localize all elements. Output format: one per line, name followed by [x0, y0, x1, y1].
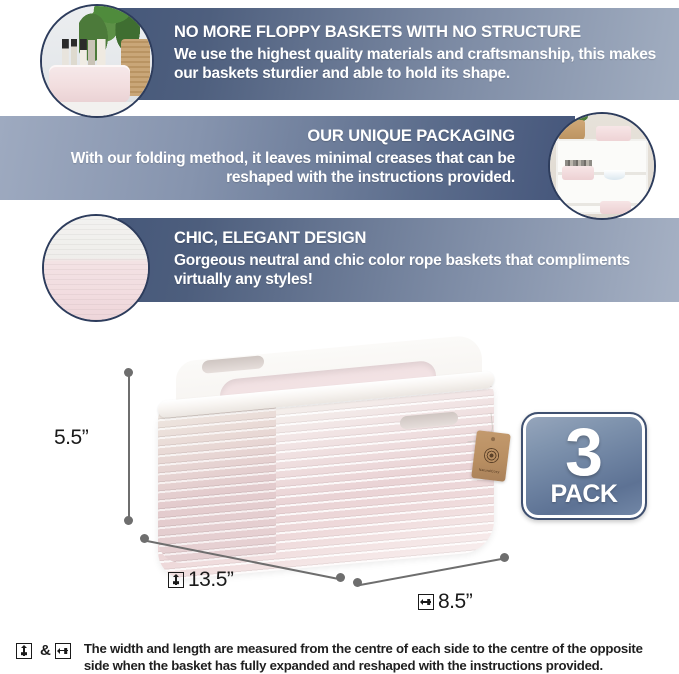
width-dim-dot-right	[500, 553, 509, 562]
width-dimension-value: 8.5”	[438, 590, 472, 613]
feature-title: NO MORE FLOPPY BASKETS WITH NO STRUCTURE	[174, 24, 665, 41]
ampersand-label: &	[40, 642, 51, 659]
pink-basket-shape	[562, 166, 593, 180]
length-dimension-value: 13.5”	[188, 568, 233, 591]
height-dimension-value: 5.5”	[54, 426, 88, 449]
vertical-arrow-box-icon	[168, 572, 184, 588]
feature-banner-design: CHIC, ELEGANT DESIGN Gorgeous neutral an…	[118, 218, 679, 302]
length-dim-dot-right	[336, 573, 345, 582]
feature-banner-packaging: OUR UNIQUE PACKAGING With our folding me…	[0, 116, 575, 200]
feature-thumbnail-structure	[40, 4, 154, 118]
horizontal-arrow-box-icon	[55, 643, 71, 659]
infographic-stage: NO MORE FLOPPY BASKETS WITH NO STRUCTURE…	[0, 0, 679, 673]
hang-tag-hole	[491, 437, 495, 441]
feature-text-block: CHIC, ELEGANT DESIGN Gorgeous neutral an…	[174, 230, 665, 290]
hang-tag-brand: NaturalCozy	[472, 467, 506, 475]
height-dimension-label: 5.5”	[54, 426, 88, 450]
woven-pot-shape	[558, 120, 585, 141]
feature-title: CHIC, ELEGANT DESIGN	[174, 230, 665, 247]
vertical-arrow-box-icon	[16, 643, 32, 659]
pink-basket-shape	[600, 201, 631, 213]
disclaimer-text: The width and length are measured from t…	[84, 640, 665, 674]
bowl-shape	[604, 170, 625, 179]
feature-thumbnail-design	[42, 214, 150, 322]
feature-body: With our folding method, it leaves minim…	[14, 150, 515, 188]
pink-basket-shape	[49, 65, 130, 102]
feature-text-block: OUR UNIQUE PACKAGING With our folding me…	[14, 128, 515, 188]
height-dim-dot-bottom	[124, 516, 133, 525]
measurement-icons: &	[16, 640, 75, 659]
feature-banner-structure: NO MORE FLOPPY BASKETS WITH NO STRUCTURE…	[118, 8, 679, 100]
pack-count-badge: 3 PACK	[521, 412, 647, 520]
height-dim-line	[128, 374, 130, 518]
hang-tag: NaturalCozy	[471, 430, 511, 482]
feature-body: We use the highest quality materials and…	[174, 46, 665, 84]
concentric-circles-logo-icon	[483, 447, 500, 464]
horizontal-arrow-box-icon	[418, 594, 434, 610]
bathroom-basket-photo	[42, 6, 152, 116]
shelf-with-baskets-photo	[550, 114, 654, 218]
length-dimension-label: 13.5”	[168, 568, 233, 592]
rope-texture-photo	[44, 216, 148, 320]
feature-body: Gorgeous neutral and chic color rope bas…	[174, 252, 665, 290]
feature-text-block: NO MORE FLOPPY BASKETS WITH NO STRUCTURE…	[174, 24, 665, 84]
pink-basket-shape	[596, 126, 631, 141]
pack-count-word: PACK	[551, 482, 618, 507]
width-dimension-label: 8.5”	[418, 590, 472, 614]
feature-thumbnail-packaging	[548, 112, 656, 220]
pack-count-number: 3	[565, 425, 603, 481]
basket-left-side	[158, 395, 276, 566]
feature-title: OUR UNIQUE PACKAGING	[14, 128, 515, 145]
counter-surface	[42, 102, 152, 116]
measurement-disclaimer: & The width and length are measured from…	[0, 636, 679, 673]
